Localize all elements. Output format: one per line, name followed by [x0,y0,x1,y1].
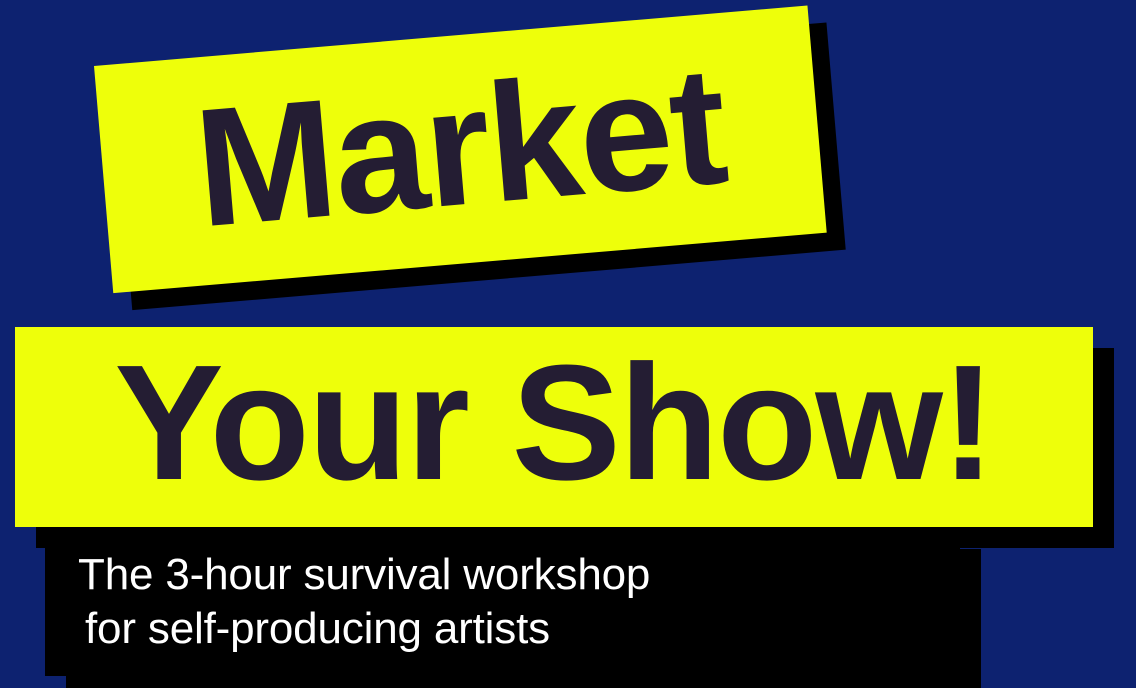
poster-canvas: Market Your Show! The 3-hour survival wo… [0,0,1136,688]
subtitle-line-2: for self-producing artists [78,602,960,656]
show-banner: Your Show! [15,327,1093,527]
subtitle-line-1: The 3-hour survival workshop [78,548,960,602]
headline-line-1: Market [189,40,731,252]
subtitle-box: The 3-hour survival workshop for self-pr… [45,528,960,676]
headline-line-2: Your Show! [114,341,993,505]
